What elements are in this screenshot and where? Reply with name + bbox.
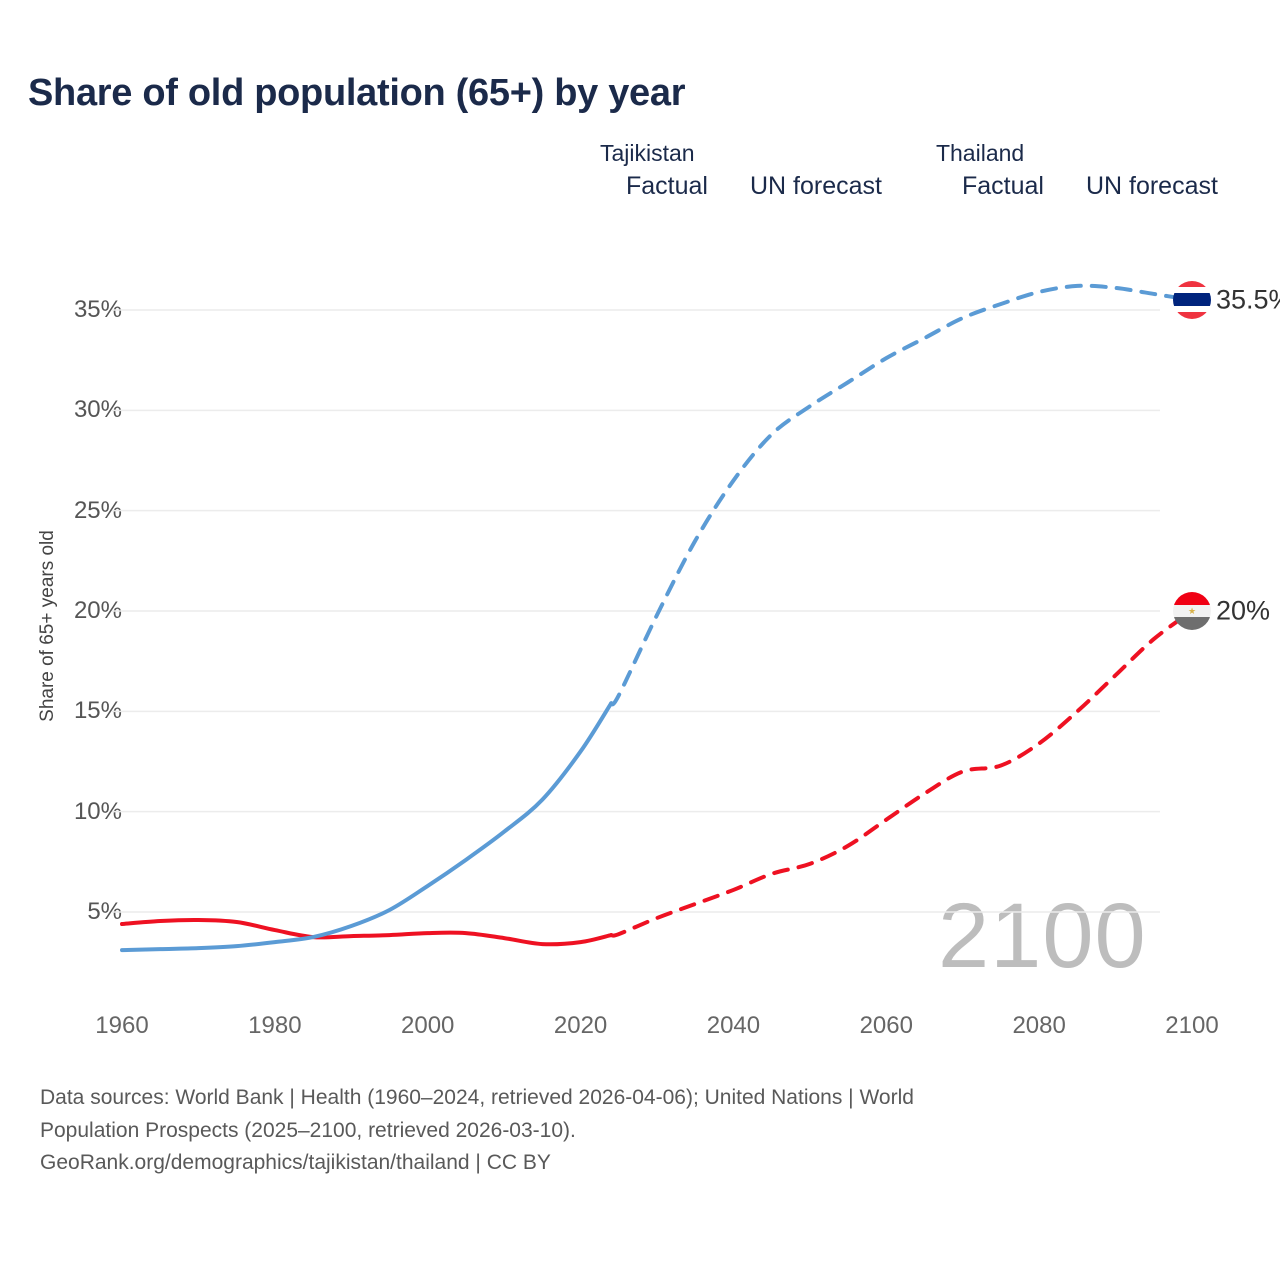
footer-line-1: Data sources: World Bank | Health (1960–… <box>40 1082 1220 1115</box>
footer-line-3[interactable]: GeoRank.org/demographics/tajikistan/thai… <box>40 1147 1220 1180</box>
chart-page: Share of old population (65+) by year Ta… <box>0 0 1280 1280</box>
footer-sources: Data sources: World Bank | Health (1960–… <box>40 1082 1220 1180</box>
tajikistan-end-value: 20% <box>1216 596 1270 627</box>
series-line-thailand-factual <box>122 703 611 950</box>
series-line-tajikistan-factual <box>122 920 611 944</box>
chart-canvas <box>0 0 1280 1060</box>
plot-area: Share of 65+ years old 5%10%15%20%25%30%… <box>0 0 1280 1060</box>
thailand-flag-icon <box>1173 281 1211 319</box>
tajikistan-flag-icon: ★ <box>1173 592 1211 630</box>
crown-icon: ★ <box>1185 607 1199 615</box>
series-line-tajikistan-forecast <box>611 611 1192 936</box>
series-line-thailand-forecast <box>611 286 1192 705</box>
footer-line-2: Population Prospects (2025–2100, retriev… <box>40 1115 1220 1148</box>
thailand-end-value: 35.5% <box>1216 284 1280 315</box>
